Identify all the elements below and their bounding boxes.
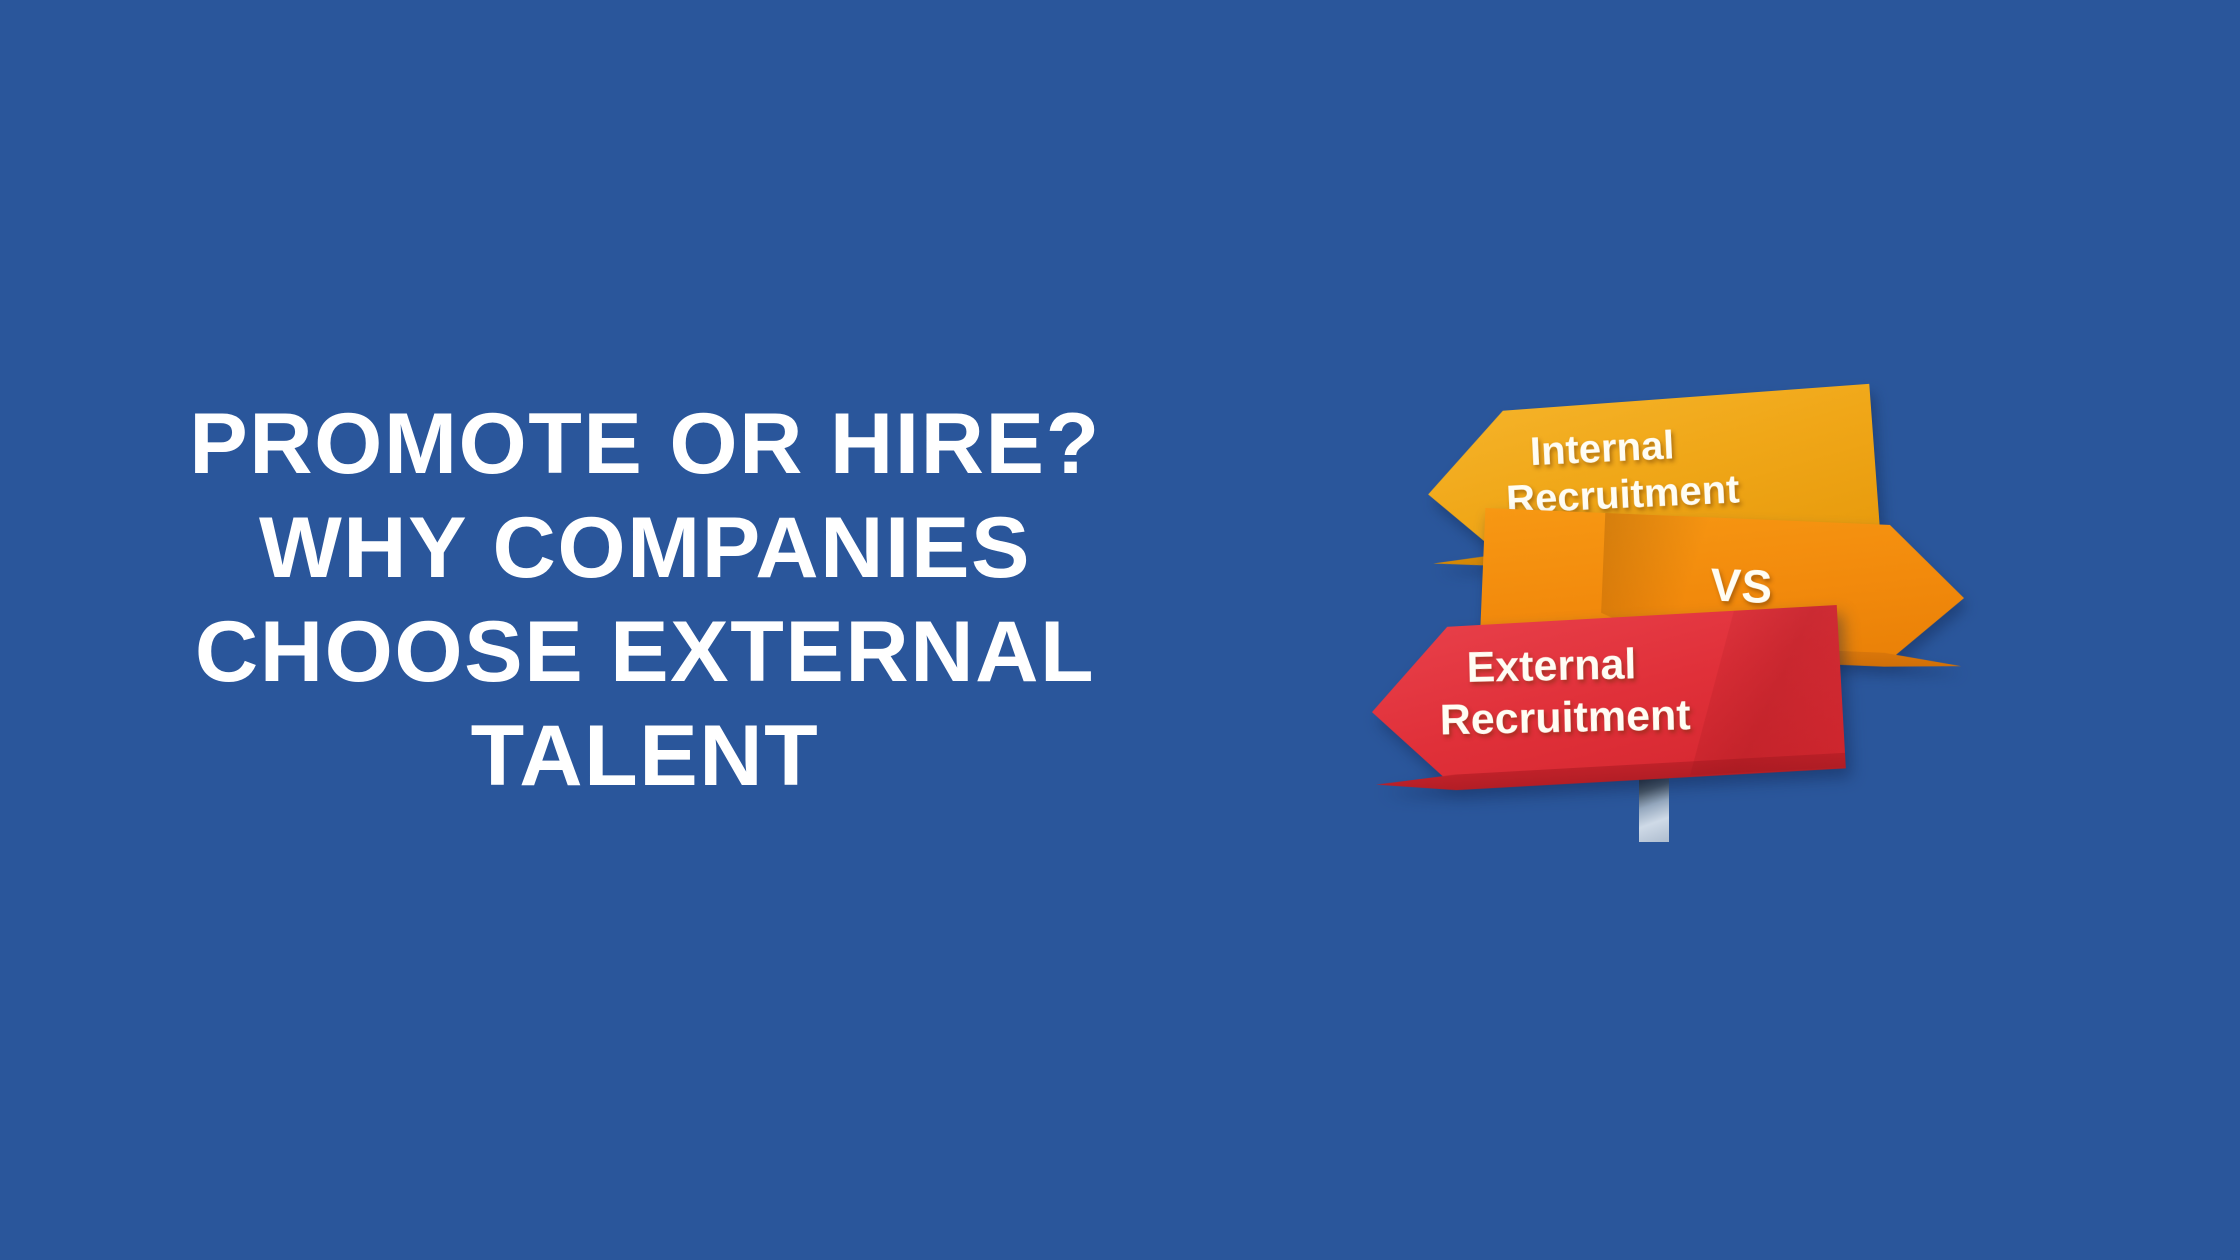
title-line-1: PROMOTE OR HIRE? [110,392,1181,496]
title-line-3: CHOOSE EXTERNAL [110,600,1181,704]
sign-external-label-line2: Recruitment [1439,694,1691,744]
sign-internal-label: Internal Recruitment [1529,422,1740,520]
sign-versus-label: VS [1709,561,1773,611]
page-title: PROMOTE OR HIRE? WHY COMPANIES CHOOSE EX… [120,392,1170,808]
sign-external-label: External Recruitment [1466,641,1691,742]
slide-canvas: PROMOTE OR HIRE? WHY COMPANIES CHOOSE EX… [0,0,2240,1260]
sign-external-label-line1: External [1466,640,1637,692]
title-line-4: TALENT [110,704,1181,808]
recruitment-signpost-illustration: Internal Recruitment VS External Recruit… [1350,370,2030,870]
sign-internal-label-line1: Internal [1529,423,1675,474]
title-line-2: WHY COMPANIES [110,496,1181,600]
sign-external-recruitment: External Recruitment [1367,605,1846,807]
